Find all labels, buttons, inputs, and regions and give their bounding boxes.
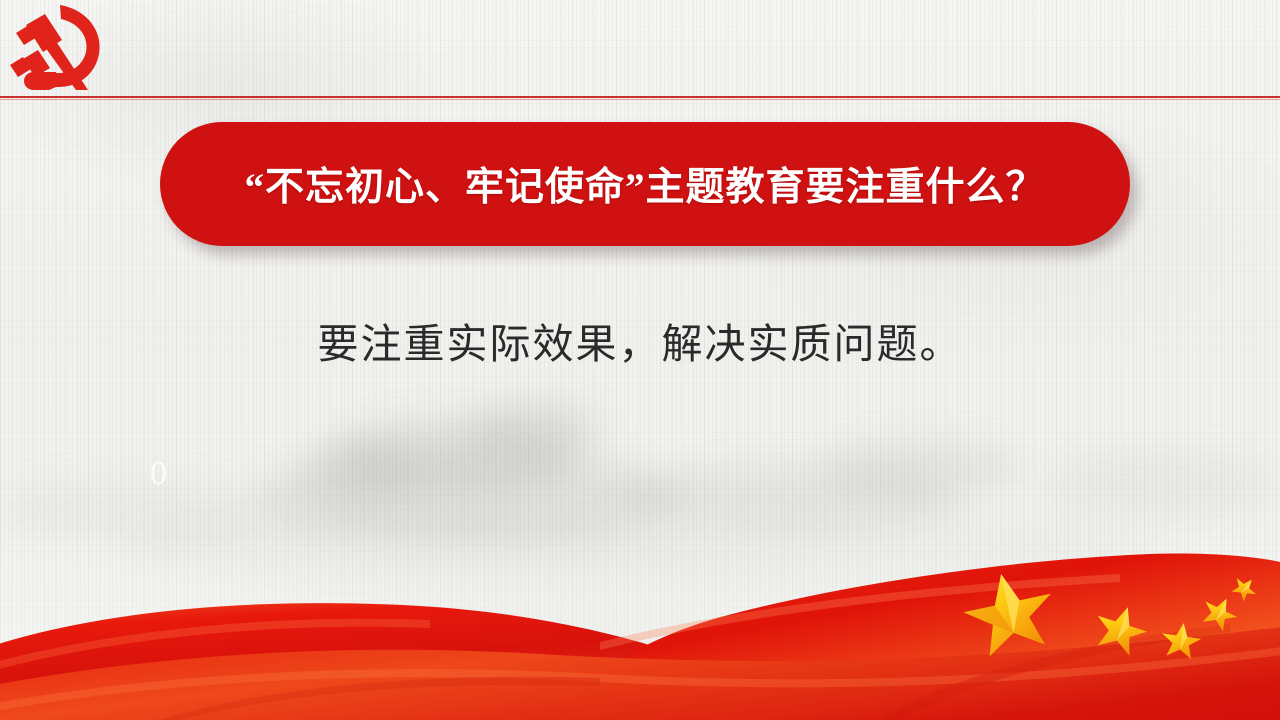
ink-mountain-shape	[300, 442, 420, 510]
watermark-glyph: 0	[150, 455, 167, 493]
flag-ribbon-decoration	[0, 530, 1280, 720]
ink-mountain-shape	[470, 400, 600, 460]
ink-cloud-shape	[1040, 450, 1280, 520]
page-title: “不忘初心、牢记使命”主题教育要注重什么？	[244, 156, 1045, 212]
title-banner: “不忘初心、牢记使命”主题教育要注重什么？	[160, 122, 1130, 246]
hammer-and-sickle-icon	[4, 2, 108, 94]
slide-canvas: “不忘初心、牢记使命”主题教育要注重什么？ 要注重实际效果，解决实质问题。 0	[0, 0, 1280, 720]
ink-mountain-shape	[820, 438, 1020, 500]
header-divider-line	[0, 96, 1280, 98]
header-divider-hairline	[0, 99, 1280, 100]
body-paragraph: 要注重实际效果，解决实质问题。	[0, 310, 1280, 370]
